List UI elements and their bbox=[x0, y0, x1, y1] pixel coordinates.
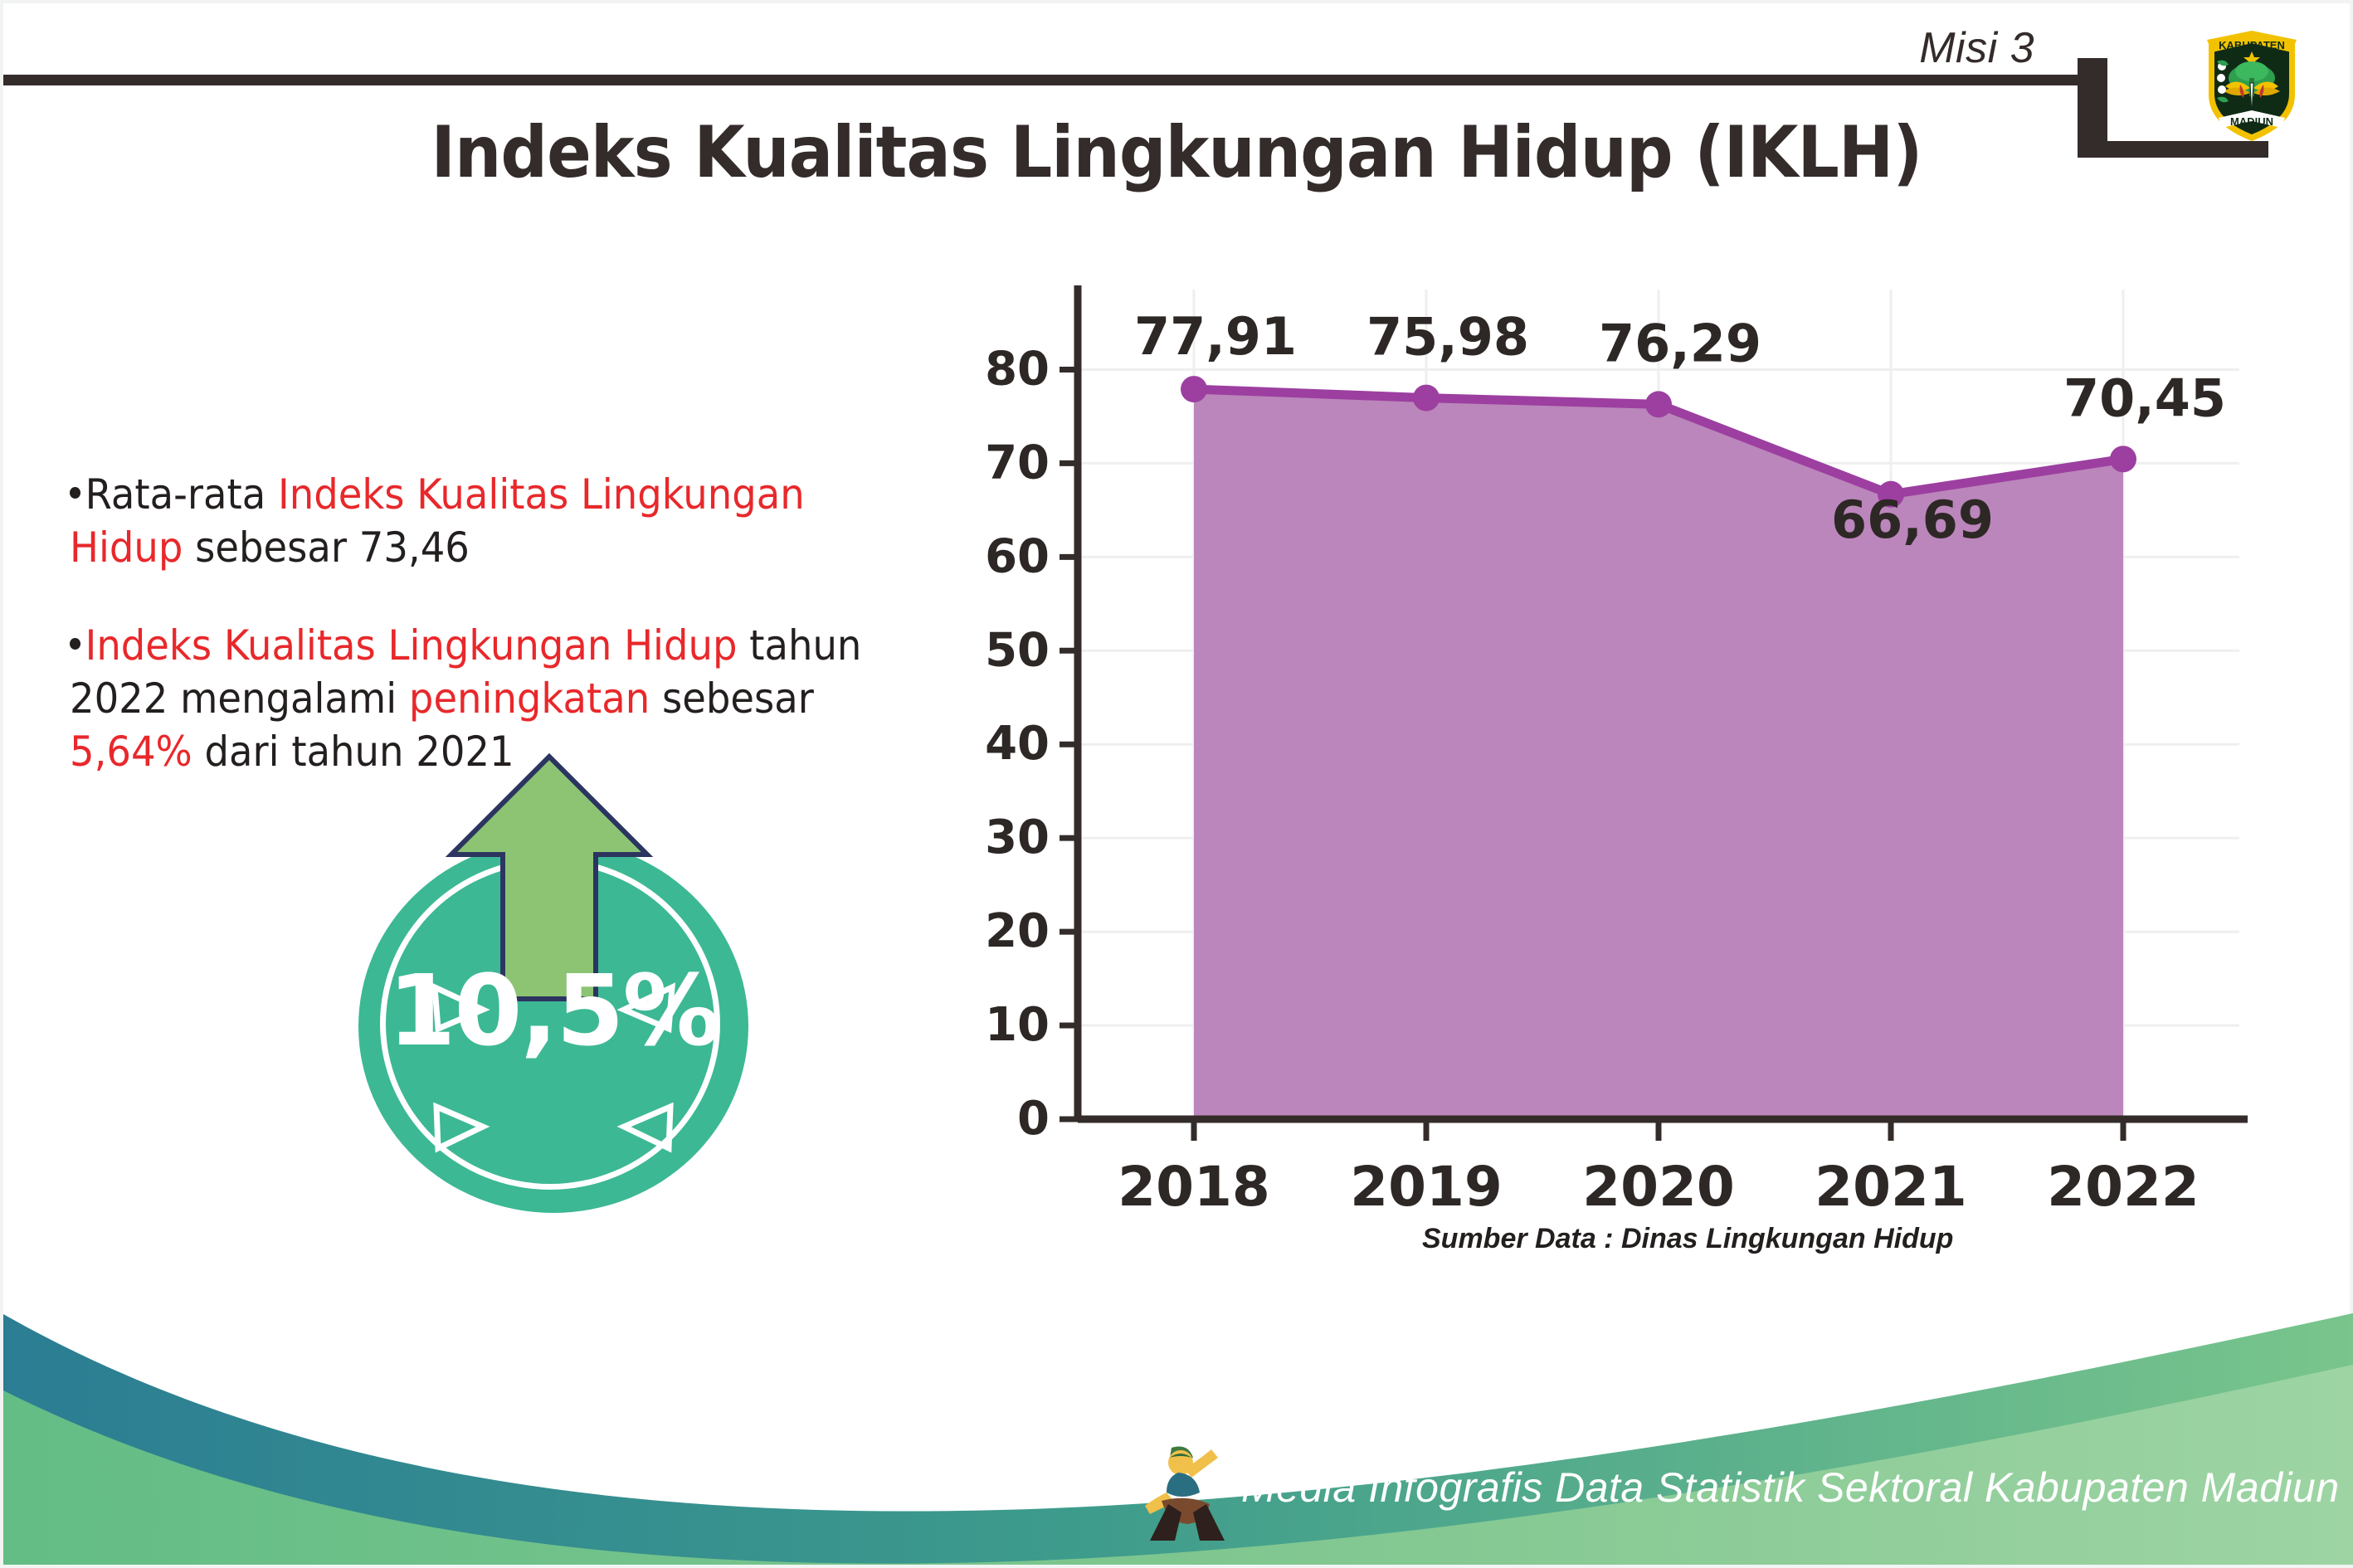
javanese-dancer-icon bbox=[1142, 1441, 1233, 1545]
page-title: Indeks Kualitas Lingkungan Hidup (IKLH) bbox=[97, 111, 2256, 194]
y-tick-label: 60 bbox=[985, 529, 1050, 583]
data-value-label: 70,45 bbox=[2063, 368, 2226, 428]
bullet-item-0: Rata-rata Indeks Kualitas Lingkungan Hid… bbox=[70, 468, 903, 574]
y-axis-tick-labels: 01020304050607080 bbox=[985, 342, 1050, 1146]
y-tick-label: 10 bbox=[985, 998, 1050, 1052]
chart-plot-area bbox=[1181, 376, 2136, 1119]
data-value-label: 66,69 bbox=[1831, 489, 1994, 550]
plain-phrase: sebesar bbox=[650, 674, 814, 723]
header-rule bbox=[3, 75, 2091, 85]
data-value-label: 75,98 bbox=[1366, 307, 1529, 368]
footer-caption: Media Infografis Data Statistik Sektoral… bbox=[1241, 1463, 2353, 1512]
chart-canvas: 01020304050607080 20182019202020212022 7… bbox=[957, 277, 2252, 1256]
increase-badge: 10,5% bbox=[335, 750, 767, 1215]
x-tick-label: 2020 bbox=[1582, 1155, 1735, 1219]
x-tick-label: 2018 bbox=[1118, 1155, 1270, 1219]
iklh-area-chart: 01020304050607080 20182019202020212022 7… bbox=[957, 277, 2252, 1256]
accent-phrase: peningkatan bbox=[409, 674, 650, 723]
plain-phrase: sebesar 73,46 bbox=[183, 523, 469, 572]
accent-phrase: Indeks Kualitas Lingkungan Hidup bbox=[85, 621, 738, 670]
y-tick-label: 50 bbox=[985, 623, 1050, 677]
x-axis-tick-labels: 20182019202020212022 bbox=[1118, 1155, 2200, 1219]
x-tick-label: 2021 bbox=[1815, 1155, 1967, 1219]
bullet-text-0: Rata-rata Indeks Kualitas Lingkungan Hid… bbox=[70, 470, 805, 572]
y-tick-label: 0 bbox=[1017, 1092, 1050, 1146]
svg-text:KABUPATEN: KABUPATEN bbox=[2219, 39, 2285, 51]
y-tick-label: 30 bbox=[985, 811, 1050, 864]
x-tick-label: 2022 bbox=[2047, 1155, 2200, 1219]
y-tick-label: 20 bbox=[985, 904, 1050, 958]
badge-value: 10,5% bbox=[358, 962, 748, 1059]
plain-phrase: Rata-rata bbox=[85, 470, 278, 519]
bullet-dot bbox=[70, 638, 80, 650]
infographic-page: Misi 3 KABUPATEN MADIUN I bbox=[3, 3, 2350, 1565]
bullet-dot bbox=[70, 487, 80, 499]
data-value-label: 77,91 bbox=[1134, 306, 1297, 367]
x-tick-label: 2019 bbox=[1350, 1155, 1503, 1219]
y-tick-label: 70 bbox=[985, 436, 1050, 489]
y-tick-label: 80 bbox=[985, 342, 1050, 396]
data-value-label: 76,29 bbox=[1599, 313, 1761, 373]
y-tick-label: 40 bbox=[985, 717, 1050, 771]
mission-label: Misi 3 bbox=[1919, 23, 2034, 73]
accent-phrase: 5,64% bbox=[70, 728, 192, 776]
